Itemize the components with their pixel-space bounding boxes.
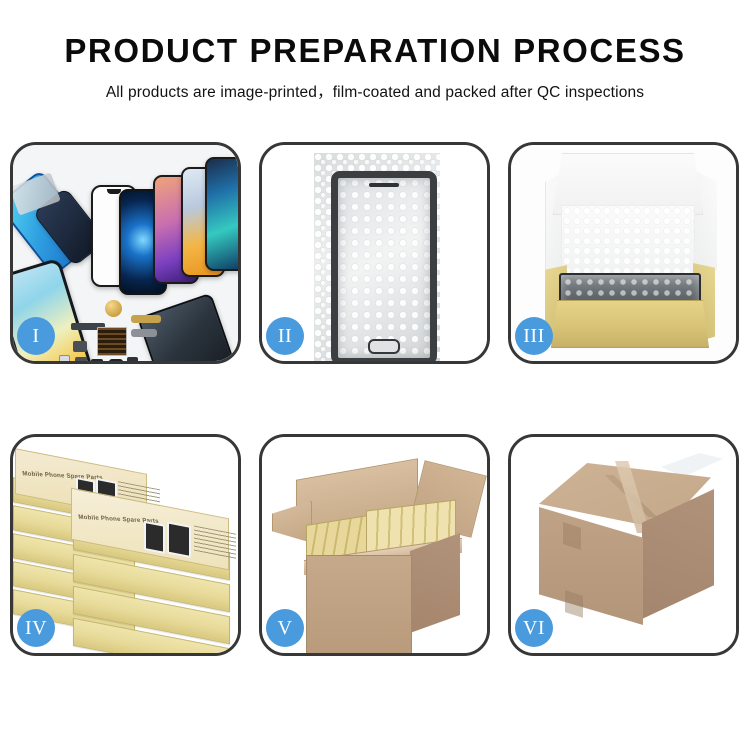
sim-tray-part	[59, 355, 70, 361]
small-component-5	[127, 357, 138, 361]
step-card-3: III	[508, 142, 739, 364]
grey-flex-cable-part	[131, 329, 157, 337]
step-badge-1: I	[17, 317, 55, 355]
carton-front-panel	[306, 555, 412, 653]
small-component-4	[109, 359, 123, 361]
step-card-1: I	[10, 142, 241, 364]
step-badge-3: III	[515, 317, 553, 355]
box-phone-graphic-front-2	[167, 521, 191, 558]
wrapped-phone-screen	[331, 171, 437, 361]
small-component-2	[75, 357, 87, 361]
step-card-4: Mobile Phone Spare Parts Mobile Phone Sp…	[10, 434, 241, 656]
step-card-2: II	[259, 142, 490, 364]
gold-flex-cable-part	[131, 315, 161, 323]
gold-speaker-part	[105, 300, 122, 317]
page-subtitle: All products are image-printed，film-coat…	[0, 80, 750, 102]
small-component-3	[91, 359, 103, 361]
page-title: PRODUCT PREPARATION PROCESS	[0, 34, 750, 67]
step-card-5: V	[259, 434, 490, 656]
process-steps-grid: I II III	[10, 142, 740, 656]
step-badge-2: II	[266, 317, 304, 355]
box-phone-graphic-front-1	[144, 521, 165, 554]
connector-grid-part	[97, 327, 127, 356]
teal-gradient-phone	[205, 157, 238, 271]
kraft-box-front-panel	[551, 300, 709, 348]
step-card-6: VI	[508, 434, 739, 656]
step-badge-4: IV	[17, 609, 55, 647]
step-badge-5: V	[266, 609, 304, 647]
step-badge-6: VI	[515, 609, 553, 647]
small-component-1	[73, 341, 87, 352]
page-header: PRODUCT PREPARATION PROCESS All products…	[0, 0, 750, 102]
